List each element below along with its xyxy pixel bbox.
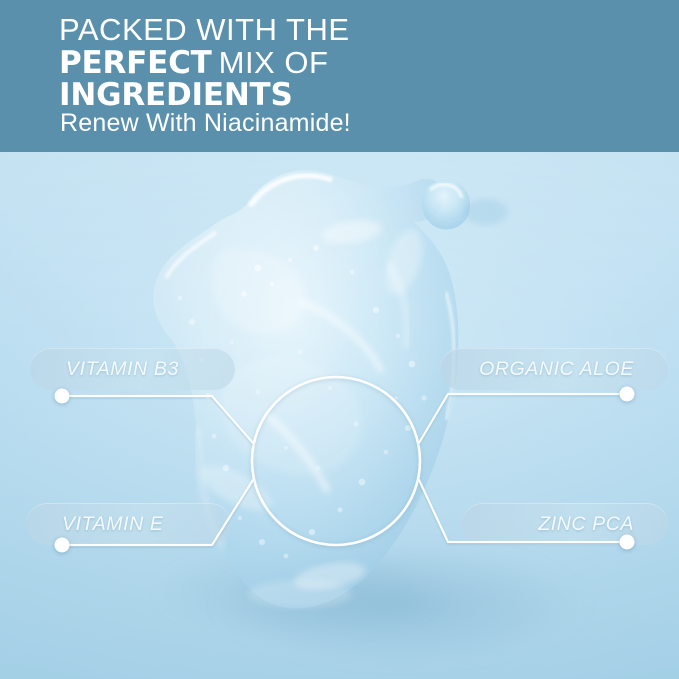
callout-vitamin-e[interactable]: VITAMIN E	[26, 503, 231, 545]
headline-perfect: PERFECT	[59, 45, 212, 81]
subtitle: Renew With Niacinamide!	[60, 109, 351, 138]
callout-organic-aloe[interactable]: ORGANIC ALOE	[440, 348, 668, 390]
headline-mix-of: MIX OF	[219, 45, 329, 80]
callout-zinc-pca[interactable]: ZINC PCA	[462, 503, 668, 545]
callout-label: ORGANIC ALOE	[479, 358, 668, 381]
callout-label: VITAMIN E	[26, 513, 163, 536]
infographic-canvas: PACKED WITH THE PERFECTMIX OF INGREDIENT…	[0, 0, 679, 679]
headline-line-1: PACKED WITH THE	[59, 12, 350, 47]
callout-vitamin-b3[interactable]: VITAMIN B3	[30, 348, 235, 390]
gel-blob-illustration	[0, 152, 679, 679]
callout-label: VITAMIN B3	[30, 358, 179, 381]
header-band: PACKED WITH THE PERFECTMIX OF INGREDIENT…	[0, 0, 679, 152]
product-photo	[0, 152, 679, 679]
callout-label: ZINC PCA	[538, 513, 668, 536]
page-title: PACKED WITH THE PERFECTMIX OF INGREDIENT…	[59, 16, 350, 110]
headline-ingredients: INGREDIENTS	[59, 77, 293, 113]
